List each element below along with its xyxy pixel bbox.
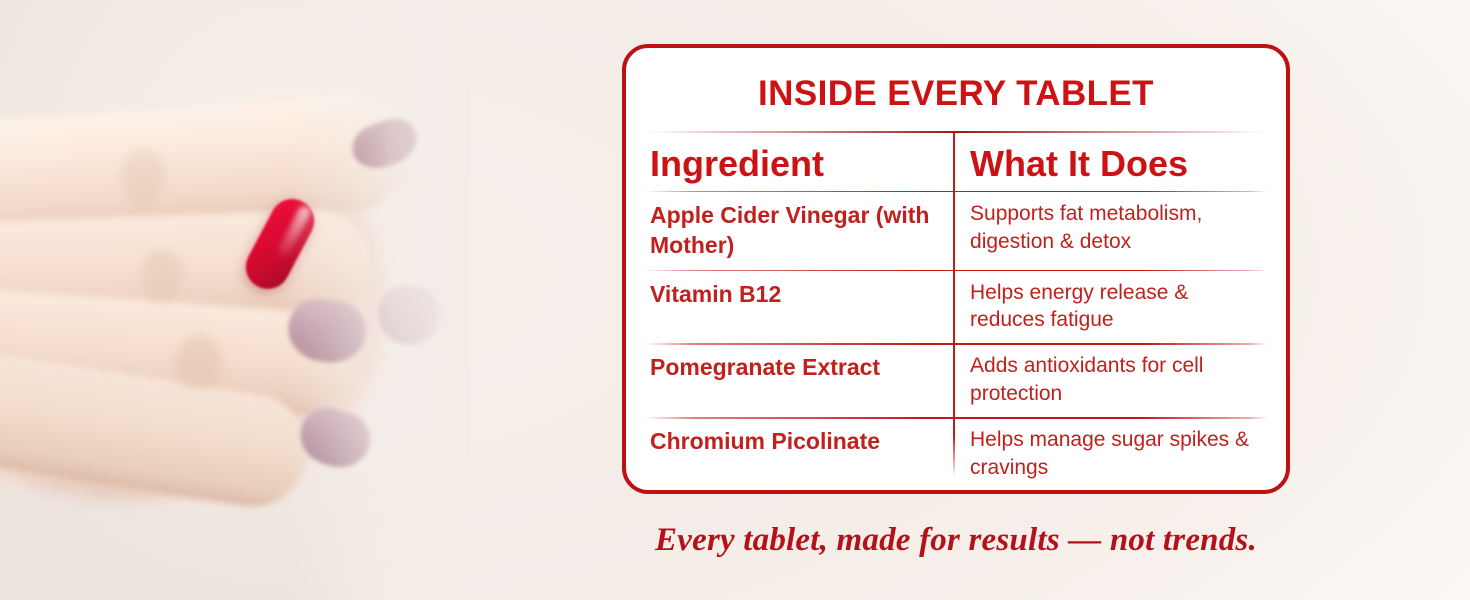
header-cell-ingredient: Ingredient	[644, 133, 952, 191]
promo-banner: INSIDE EVERY TABLET Ingredient What It D…	[0, 0, 1470, 600]
tagline: Every tablet, made for results — not tre…	[622, 522, 1290, 559]
table-row: Apple Cider Vinegar (with Mother) Suppor…	[644, 191, 1268, 270]
cell-ingredient: Chromium Picolinate	[644, 417, 952, 491]
table-row: Pomegranate Extract Adds antioxidants fo…	[644, 343, 1268, 417]
cell-effect: Helps manage sugar spikes & cravings	[952, 417, 1268, 491]
knuckle-crease-3	[175, 336, 223, 390]
product-photo	[0, 0, 470, 600]
ingredient-name: Pomegranate Extract	[650, 352, 940, 382]
ingredient-card: INSIDE EVERY TABLET Ingredient What It D…	[622, 44, 1290, 494]
column-header-effect: What It Does	[970, 145, 1262, 183]
ingredient-name: Apple Cider Vinegar (with Mother)	[650, 200, 940, 261]
ingredient-name: Chromium Picolinate	[650, 426, 940, 456]
card-title: INSIDE EVERY TABLET	[626, 48, 1286, 111]
knuckle-crease-1	[120, 150, 166, 208]
cell-ingredient: Vitamin B12	[644, 270, 952, 344]
cell-effect: Helps energy release & reduces fatigue	[952, 270, 1268, 344]
cell-ingredient: Pomegranate Extract	[644, 343, 952, 417]
table-row: Vitamin B12 Helps energy release & reduc…	[644, 270, 1268, 344]
ingredient-table: Ingredient What It Does Apple Cider Vine…	[644, 133, 1268, 491]
ingredient-effect: Adds antioxidants for cell protection	[970, 352, 1262, 408]
photo-edge-fade	[290, 0, 470, 600]
cell-effect: Adds antioxidants for cell protection	[952, 343, 1268, 417]
knuckle-crease-2	[140, 250, 184, 302]
header-cell-effect: What It Does	[952, 133, 1268, 191]
cell-ingredient: Apple Cider Vinegar (with Mother)	[644, 191, 952, 270]
ingredient-effect: Helps energy release & reduces fatigue	[970, 279, 1262, 335]
ingredient-effect: Supports fat metabolism, digestion & det…	[970, 200, 1262, 256]
table-header-row: Ingredient What It Does	[644, 133, 1268, 191]
column-header-ingredient: Ingredient	[650, 145, 940, 183]
cell-effect: Supports fat metabolism, digestion & det…	[952, 191, 1268, 270]
ingredient-effect: Helps manage sugar spikes & cravings	[970, 426, 1262, 482]
table-row: Chromium Picolinate Helps manage sugar s…	[644, 417, 1268, 491]
ingredient-name: Vitamin B12	[650, 279, 940, 309]
